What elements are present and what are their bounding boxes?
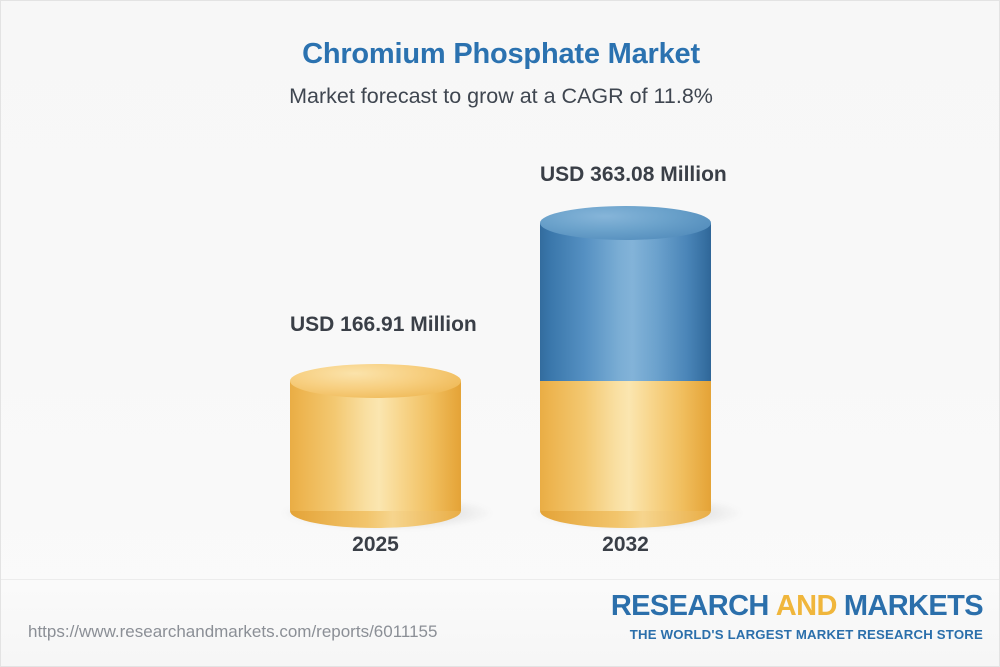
brand-tagline: THE WORLD'S LARGEST MARKET RESEARCH STOR… [611, 628, 983, 641]
cylinder-2025-body [290, 381, 461, 511]
value-label-2032: USD 363.08 Million [540, 163, 711, 187]
cylinder-2032-base-segment [540, 381, 711, 511]
axis-label-2032: 2032 [540, 533, 711, 557]
axis-label-2025: 2025 [290, 533, 461, 557]
bar-group-2025: USD 166.91 Million 2025 [290, 141, 461, 581]
cylinder-2025-top-cap [290, 364, 461, 398]
cylinder-2032-growth-segment [540, 223, 711, 381]
brand-logo[interactable]: RESEARCHANDMARKETS THE WORLD'S LARGEST M… [611, 592, 983, 641]
report-url-link[interactable]: https://www.researchandmarkets.com/repor… [28, 622, 437, 642]
brand-word-and: AND [776, 590, 837, 622]
chart-header: Chromium Phosphate Market Market forecas… [1, 1, 1000, 109]
brand-word-research: RESEARCH [611, 590, 769, 622]
page-footer: https://www.researchandmarkets.com/repor… [1, 579, 1000, 666]
page-title: Chromium Phosphate Market [1, 1, 1000, 71]
cylinder-2032-top-cap [540, 206, 711, 240]
brand-wordmark: RESEARCHANDMARKETS [611, 592, 983, 621]
chart-page: Chromium Phosphate Market Market forecas… [0, 0, 1000, 667]
chart-plot-area: USD 166.91 Million 2025 USD 363.08 Milli… [1, 141, 1000, 581]
value-label-2025: USD 166.91 Million [290, 313, 461, 337]
chart-subtitle: Market forecast to grow at a CAGR of 11.… [1, 71, 1000, 109]
bar-group-2032: USD 363.08 Million 2032 [540, 141, 711, 581]
brand-word-markets: MARKETS [844, 590, 983, 622]
